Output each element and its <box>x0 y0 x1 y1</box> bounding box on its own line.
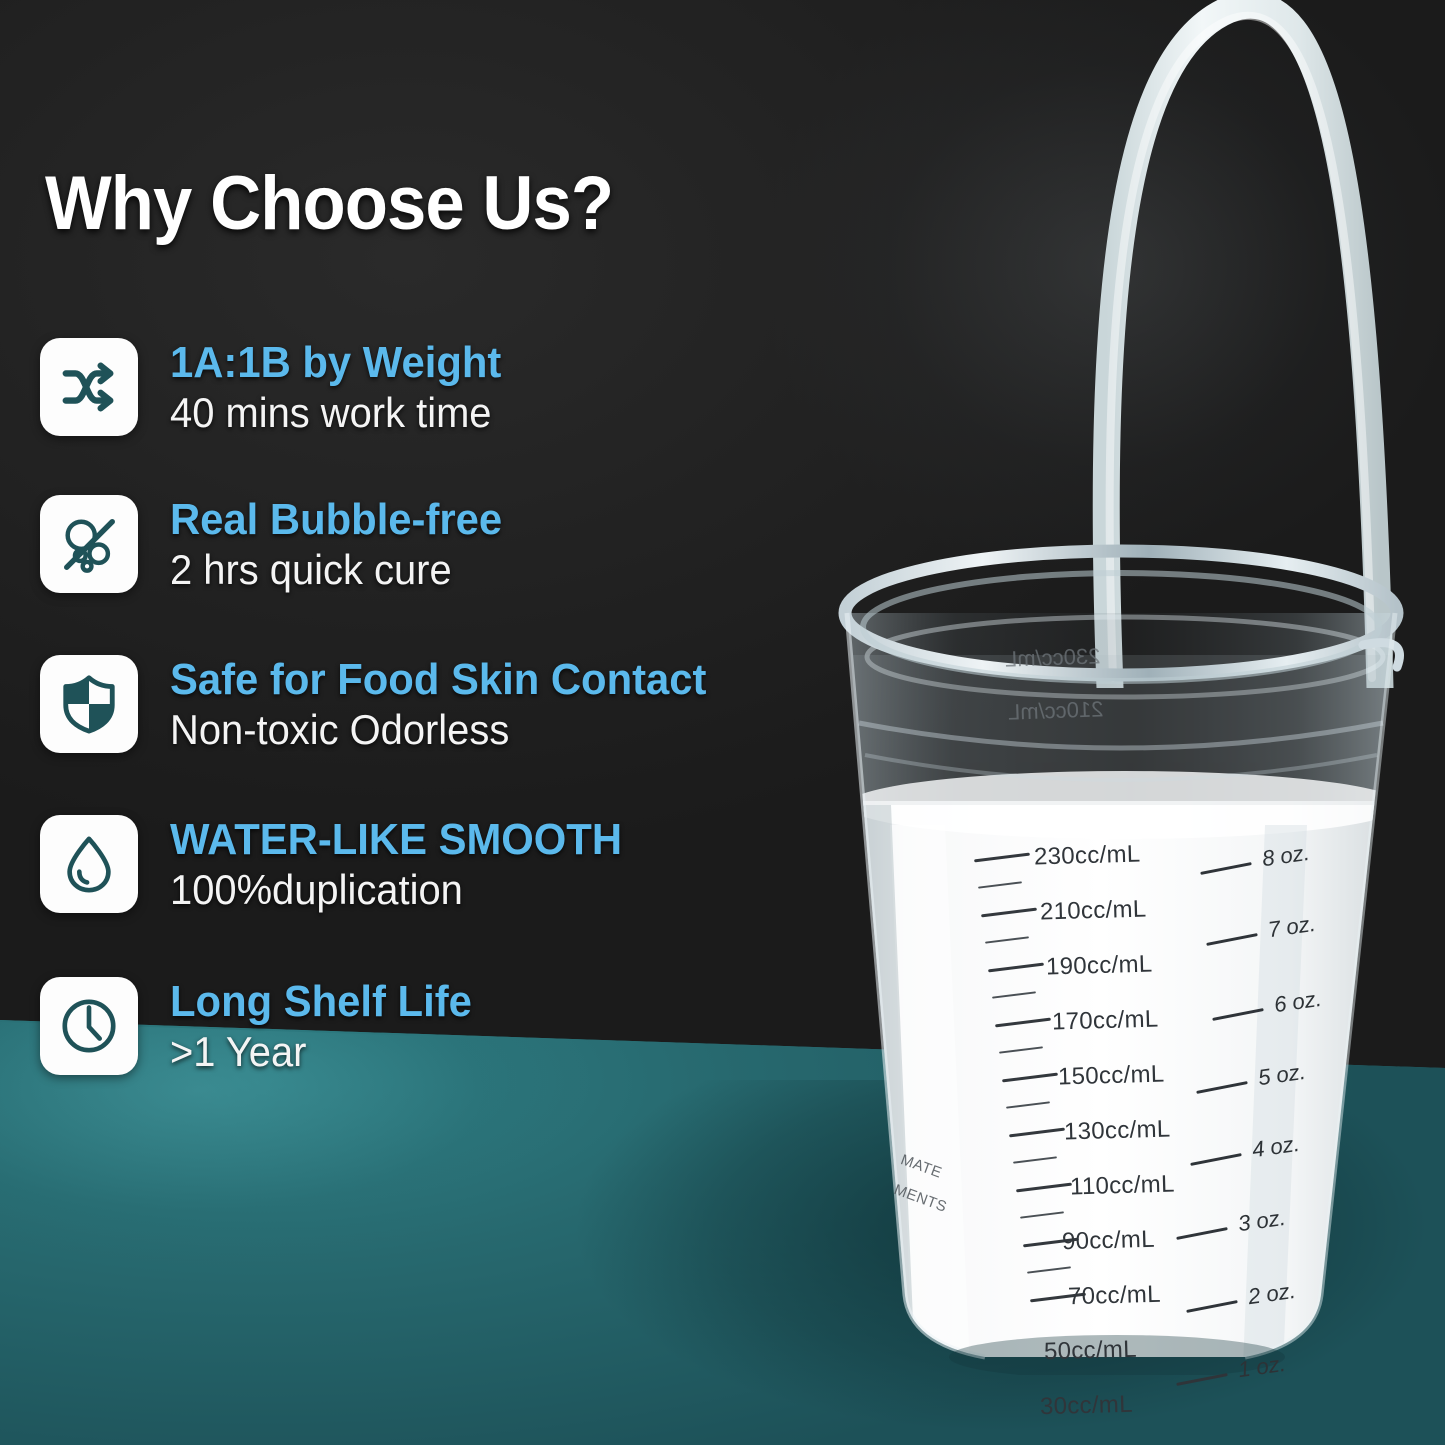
feature-item-food-safe: Safe for Food Skin Contact Non-toxic Odo… <box>40 655 735 753</box>
page-title: Why Choose Us? <box>45 166 613 242</box>
feature-subtitle: 100%duplication <box>170 866 622 913</box>
feature-text-block: Long Shelf Life >1 Year <box>170 977 488 1075</box>
feature-item-bubble-free: Real Bubble-free 2 hrs quick cure <box>40 495 520 593</box>
feature-subtitle: 40 mins work time <box>170 389 501 436</box>
shield-icon <box>58 673 120 735</box>
feature-text-block: 1A:1B by Weight 40 mins work time <box>170 338 519 436</box>
shuffle-icon-tile <box>40 338 138 436</box>
feature-subtitle: 2 hrs quick cure <box>170 546 502 593</box>
water-drop-icon-tile <box>40 815 138 913</box>
graduation-label-ml: 230cc/mL <box>1034 841 1141 872</box>
feature-title: WATER-LIKE SMOOTH <box>170 817 622 864</box>
graduation-label-ml: 130cc/mL <box>1064 1116 1171 1147</box>
feature-item-mix-ratio: 1A:1B by Weight 40 mins work time <box>40 338 519 436</box>
graduation-label-ml: 90cc/mL <box>1062 1226 1156 1257</box>
graduation-label-ml: 30cc/mL <box>1040 1391 1134 1422</box>
feature-item-water-like: WATER-LIKE SMOOTH 100%duplication <box>40 815 646 913</box>
graduation-label-ml: 170cc/mL <box>1052 1006 1159 1037</box>
feature-text-block: Safe for Food Skin Contact Non-toxic Odo… <box>170 655 735 753</box>
shuffle-icon <box>58 356 120 418</box>
no-bubbles-icon <box>58 513 120 575</box>
no-bubbles-icon-tile <box>40 495 138 593</box>
cup-rim-mirrored-label-1: 230cc/mL <box>1005 643 1101 672</box>
feature-text-block: WATER-LIKE SMOOTH 100%duplication <box>170 815 646 913</box>
feature-item-shelf-life: Long Shelf Life >1 Year <box>40 977 488 1075</box>
clock-icon <box>58 995 120 1057</box>
water-drop-icon <box>58 833 120 895</box>
feature-title: Long Shelf Life <box>170 979 472 1026</box>
feature-subtitle: Non-toxic Odorless <box>170 706 706 753</box>
graduation-label-ml: 70cc/mL <box>1068 1281 1162 1312</box>
clock-icon-tile <box>40 977 138 1075</box>
graduation-label-ml: 190cc/mL <box>1046 951 1153 982</box>
graduation-label-ml: 210cc/mL <box>1040 896 1147 927</box>
feature-title: Safe for Food Skin Contact <box>170 657 706 704</box>
feature-text-block: Real Bubble-free 2 hrs quick cure <box>170 495 520 593</box>
shield-icon-tile <box>40 655 138 753</box>
feature-title: 1A:1B by Weight <box>170 340 501 387</box>
cup-rim-mirrored-label-2: 210cc/mL <box>1008 696 1104 725</box>
graduation-label-ml: 150cc/mL <box>1058 1061 1165 1092</box>
graduation-label-ml: 50cc/mL <box>1044 1336 1138 1367</box>
infographic-canvas: 230cc/mL 210cc/mL MATE MENTS 230cc/mL 21… <box>0 0 1445 1445</box>
feature-subtitle: >1 Year <box>170 1028 472 1075</box>
graduation-label-ml: 110cc/mL <box>1070 1171 1175 1202</box>
feature-title: Real Bubble-free <box>170 497 502 544</box>
